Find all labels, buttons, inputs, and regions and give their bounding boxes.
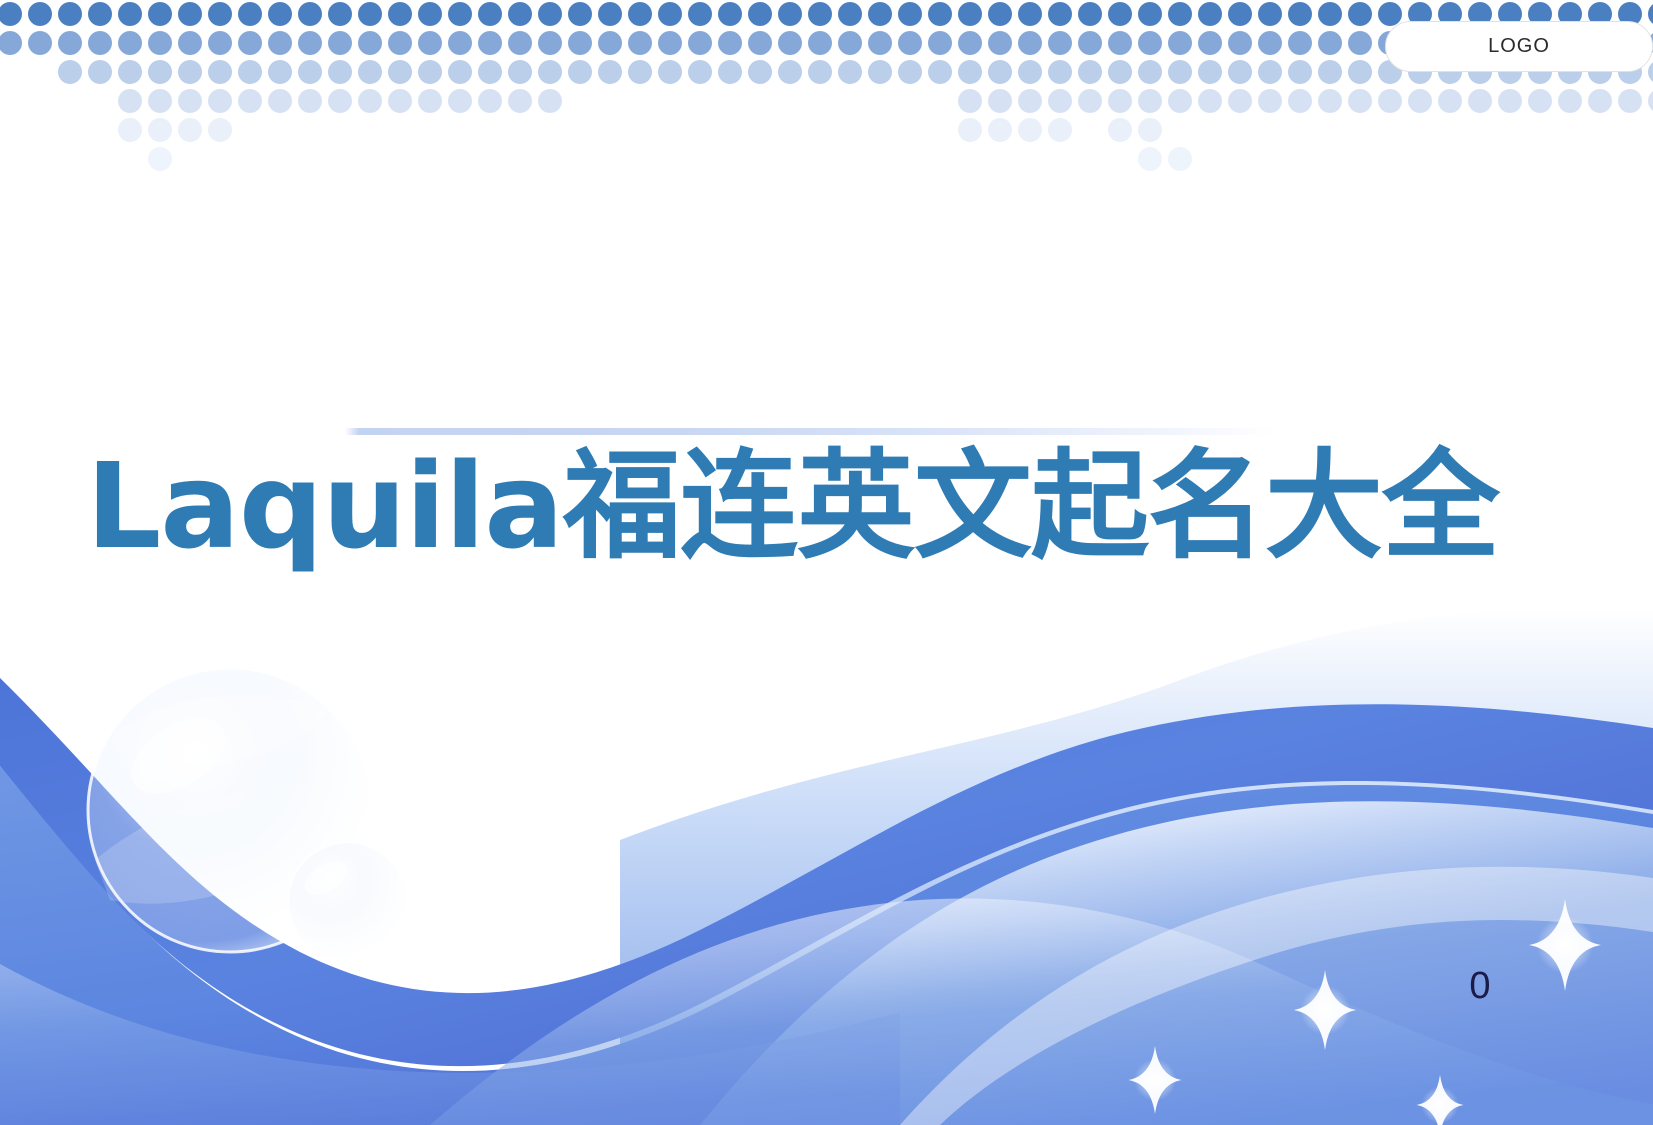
pattern-dot [928,2,952,26]
pattern-dot [1018,89,1042,113]
pattern-dot [568,2,592,26]
pattern-dot [628,60,652,84]
pattern-dot [88,2,112,26]
pattern-dot [1108,89,1132,113]
pattern-dot [658,31,682,55]
pattern-dot [778,2,802,26]
pattern-dot [148,89,172,113]
page-title: Laquila福连英文起名大全 [0,440,1585,572]
pattern-dot [118,31,142,55]
pattern-dot [1228,2,1252,26]
pattern-dot [508,31,532,55]
pattern-dot [1108,31,1132,55]
pattern-dot [118,60,142,84]
pattern-dot [178,118,202,142]
pattern-dot [658,2,682,26]
pattern-dot [328,60,352,84]
pattern-dot [358,89,382,113]
pattern-dot [1108,60,1132,84]
wave-artwork [0,560,1653,1125]
pattern-dot [1288,60,1312,84]
pattern-dot [298,60,322,84]
pattern-dot [1318,89,1342,113]
pattern-dot [28,31,52,55]
pattern-dot [0,2,22,26]
pattern-dot [538,89,562,113]
pattern-dot [1348,60,1372,84]
pattern-dot [268,60,292,84]
pattern-dot [1048,60,1072,84]
pattern-dot [718,2,742,26]
pattern-dot [1318,2,1342,26]
pattern-dot [208,118,232,142]
pattern-dot [1348,2,1372,26]
pattern-dot [1288,89,1312,113]
pattern-dot [148,31,172,55]
pattern-dot [538,60,562,84]
pattern-dot [358,2,382,26]
pattern-dot [598,60,622,84]
pattern-dot [178,2,202,26]
pattern-dot [58,60,82,84]
pattern-dot [988,60,1012,84]
bubble-group [88,668,408,962]
pattern-dot [118,89,142,113]
pattern-dot [1138,89,1162,113]
pattern-dot [988,89,1012,113]
pattern-dot [448,31,472,55]
sparkle-2-icon [1294,970,1356,1050]
pattern-dot [1138,118,1162,142]
pattern-dot [28,2,52,26]
pattern-dot [178,31,202,55]
pattern-dot [718,31,742,55]
pattern-dot [88,31,112,55]
pattern-dot [1348,31,1372,55]
pattern-dot [208,2,232,26]
pattern-dot [808,2,832,26]
pattern-dot [1348,89,1372,113]
pattern-dot [1378,2,1402,26]
pattern-dot [1258,2,1282,26]
pattern-dot [1078,60,1102,84]
pattern-dot [1078,89,1102,113]
pattern-dot [358,60,382,84]
pattern-dot [748,60,772,84]
pattern-dot [1648,60,1653,84]
logo-placeholder[interactable]: LOGO [1385,21,1653,72]
sparkle-1-icon [1529,899,1601,991]
pattern-dot [898,31,922,55]
pattern-dot [1138,147,1162,171]
pattern-dot [898,2,922,26]
pattern-dot [1228,60,1252,84]
pattern-dot [448,89,472,113]
pattern-dot [1258,60,1282,84]
pattern-dot [718,60,742,84]
pattern-dot [688,60,712,84]
pattern-dot [118,118,142,142]
pattern-dot [748,2,772,26]
title-slide: LOGO Laquila福连英文起名大全 [0,0,1653,1125]
pattern-dot [1048,118,1072,142]
pattern-dot [1468,89,1492,113]
pattern-dot [208,89,232,113]
pattern-dot [988,118,1012,142]
sparkle-4-icon [1417,1075,1464,1125]
pattern-dot [148,60,172,84]
pattern-dot [1138,60,1162,84]
pattern-dot [838,31,862,55]
pattern-dot [178,89,202,113]
pattern-dot [328,89,352,113]
pattern-dot [628,2,652,26]
pattern-dot [568,60,592,84]
pattern-dot [1258,31,1282,55]
pattern-dot [268,2,292,26]
pattern-dot [1588,89,1612,113]
pattern-dot [988,2,1012,26]
pattern-dot [388,89,412,113]
pattern-dot [1228,31,1252,55]
pattern-dot [1108,118,1132,142]
pattern-dot [598,2,622,26]
pattern-dot [328,31,352,55]
pattern-dot [298,2,322,26]
pattern-dot [238,31,262,55]
pattern-dot [868,2,892,26]
pattern-dot [808,60,832,84]
pattern-dot [1438,89,1462,113]
pattern-dot [688,2,712,26]
pattern-dot [118,2,142,26]
pattern-dot [478,60,502,84]
pattern-dot [508,89,532,113]
pattern-dot [838,60,862,84]
pattern-dot [1648,2,1653,26]
pattern-dot [868,60,892,84]
pattern-dot [868,31,892,55]
pattern-dot [628,31,652,55]
pattern-dot [1168,60,1192,84]
pattern-dot [1648,89,1653,113]
pattern-dot [418,60,442,84]
pattern-dot [928,31,952,55]
pattern-dot [298,31,322,55]
pattern-dot [268,89,292,113]
pattern-dot [1018,2,1042,26]
pattern-dot [658,60,682,84]
pattern-dot [238,60,262,84]
pattern-dot [238,89,262,113]
pattern-dot [1138,31,1162,55]
pattern-dot [958,118,982,142]
pattern-dot [958,2,982,26]
pattern-dot [358,31,382,55]
pattern-dot [598,31,622,55]
pattern-dot [1378,89,1402,113]
pattern-dot [748,31,772,55]
pattern-dot [1618,89,1642,113]
pattern-dot [448,60,472,84]
pattern-dot [148,147,172,171]
pattern-dot [778,31,802,55]
pattern-dot [928,60,952,84]
pattern-dot [1018,118,1042,142]
pattern-dot [88,60,112,84]
pattern-dot [418,89,442,113]
pattern-dot [1048,31,1072,55]
pattern-dot [1048,89,1072,113]
pattern-dot [1498,89,1522,113]
sparkle-group [1128,899,1600,1125]
pattern-dot [1408,89,1432,113]
pattern-dot [1198,89,1222,113]
pattern-dot [418,2,442,26]
pattern-dot [58,2,82,26]
pattern-dot [1288,2,1312,26]
pattern-dot [58,31,82,55]
pattern-dot [478,89,502,113]
pattern-dot [778,60,802,84]
pattern-dot [478,2,502,26]
pattern-dot [148,2,172,26]
pattern-dot [1168,147,1192,171]
pattern-dot [208,31,232,55]
pattern-dot [958,89,982,113]
pattern-dot [1078,31,1102,55]
pattern-dot [1318,31,1342,55]
pattern-dot [508,60,532,84]
pattern-dot [688,31,712,55]
pattern-dot [1198,60,1222,84]
pattern-dot [1288,31,1312,55]
pattern-dot [898,60,922,84]
pattern-dot [418,31,442,55]
pattern-dot [1198,2,1222,26]
pattern-dot [148,118,172,142]
pattern-dot [238,2,262,26]
pattern-dot [1168,89,1192,113]
sparkle-3-icon [1128,1046,1181,1114]
pattern-dot [958,31,982,55]
title-divider-rule [345,428,1275,435]
pattern-dot [1018,31,1042,55]
pattern-dot [268,31,292,55]
pattern-dot [508,2,532,26]
pattern-dot [0,31,22,55]
pattern-dot [388,2,412,26]
pattern-dot [958,60,982,84]
pattern-dot [448,2,472,26]
pattern-dot [1198,31,1222,55]
pattern-dot [1258,89,1282,113]
pattern-dot [1018,60,1042,84]
pattern-dot [1048,2,1072,26]
pattern-dot [808,31,832,55]
pattern-dot [1078,2,1102,26]
pattern-dot [388,60,412,84]
logo-placeholder-label: LOGO [1488,35,1550,58]
pattern-dot [1528,89,1552,113]
pattern-dot [568,31,592,55]
pattern-dot [538,2,562,26]
pattern-dot [538,31,562,55]
pattern-dot [1168,2,1192,26]
pattern-dot [478,31,502,55]
pattern-dot [1318,60,1342,84]
pattern-dot [1138,2,1162,26]
pattern-dot [1228,89,1252,113]
pattern-dot [388,31,412,55]
pattern-dot [988,31,1012,55]
pattern-dot [208,60,232,84]
pattern-dot [1558,89,1582,113]
page-number: 0 [1450,965,1510,1008]
pattern-dot [1168,31,1192,55]
pattern-dot [1108,2,1132,26]
pattern-dot [328,2,352,26]
pattern-dot [178,60,202,84]
pattern-dot [298,89,322,113]
pattern-dot [838,2,862,26]
